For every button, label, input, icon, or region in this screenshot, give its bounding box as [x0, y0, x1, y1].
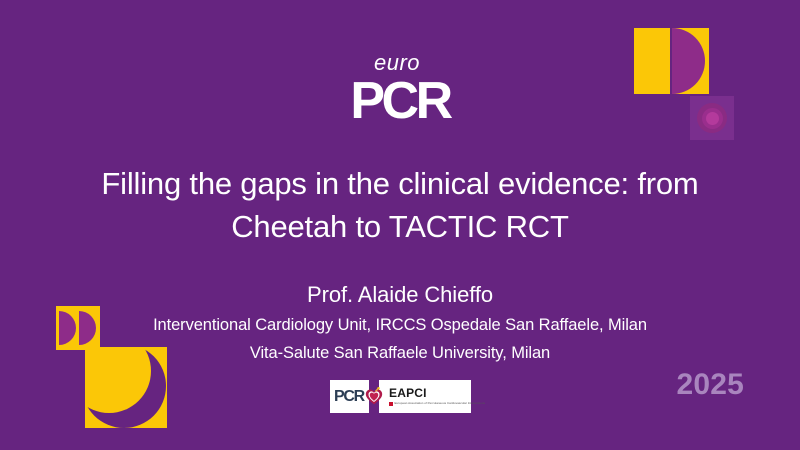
europcr-logo: euro PCR — [0, 52, 800, 127]
slide-title-line-2: Cheetah to TACTIC RCT — [50, 206, 750, 249]
pcr-logo-text: PCR — [334, 389, 364, 405]
eapci-logo-text-block: EAPCI European Association of Percutaneo… — [389, 387, 485, 406]
presentation-slide: euro PCR Filling the gaps in the clinica… — [0, 0, 800, 450]
eapci-logo-name: EAPCI — [389, 387, 427, 399]
slide-title-line-1: Filling the gaps in the clinical evidenc… — [50, 163, 750, 206]
heart-icon — [364, 386, 384, 407]
europcr-logo-pcr-text: PCR — [0, 75, 800, 127]
esc-square-icon — [389, 402, 393, 406]
slide-title: Filling the gaps in the clinical evidenc… — [50, 163, 750, 249]
presenter-name: Prof. Alaide Chieffo — [40, 280, 760, 310]
presenter-affiliation-1: Interventional Cardiology Unit, IRCCS Os… — [40, 313, 760, 338]
presenter-affiliation-2: Vita-Salute San Raffaele University, Mil… — [40, 341, 760, 366]
year-label: 2025 — [676, 370, 744, 400]
eapci-logo-subtitle-row: European Association of Percutaneous Car… — [389, 402, 485, 406]
pcr-logo: PCR — [330, 380, 369, 413]
europcr-logo-euro-text: euro — [0, 52, 800, 74]
presenter-block: Prof. Alaide Chieffo Interventional Card… — [40, 280, 760, 366]
eapci-logo-subtitle: European Association of Percutaneous Car… — [395, 402, 486, 405]
eapci-logo: EAPCI European Association of Percutaneo… — [379, 380, 471, 413]
